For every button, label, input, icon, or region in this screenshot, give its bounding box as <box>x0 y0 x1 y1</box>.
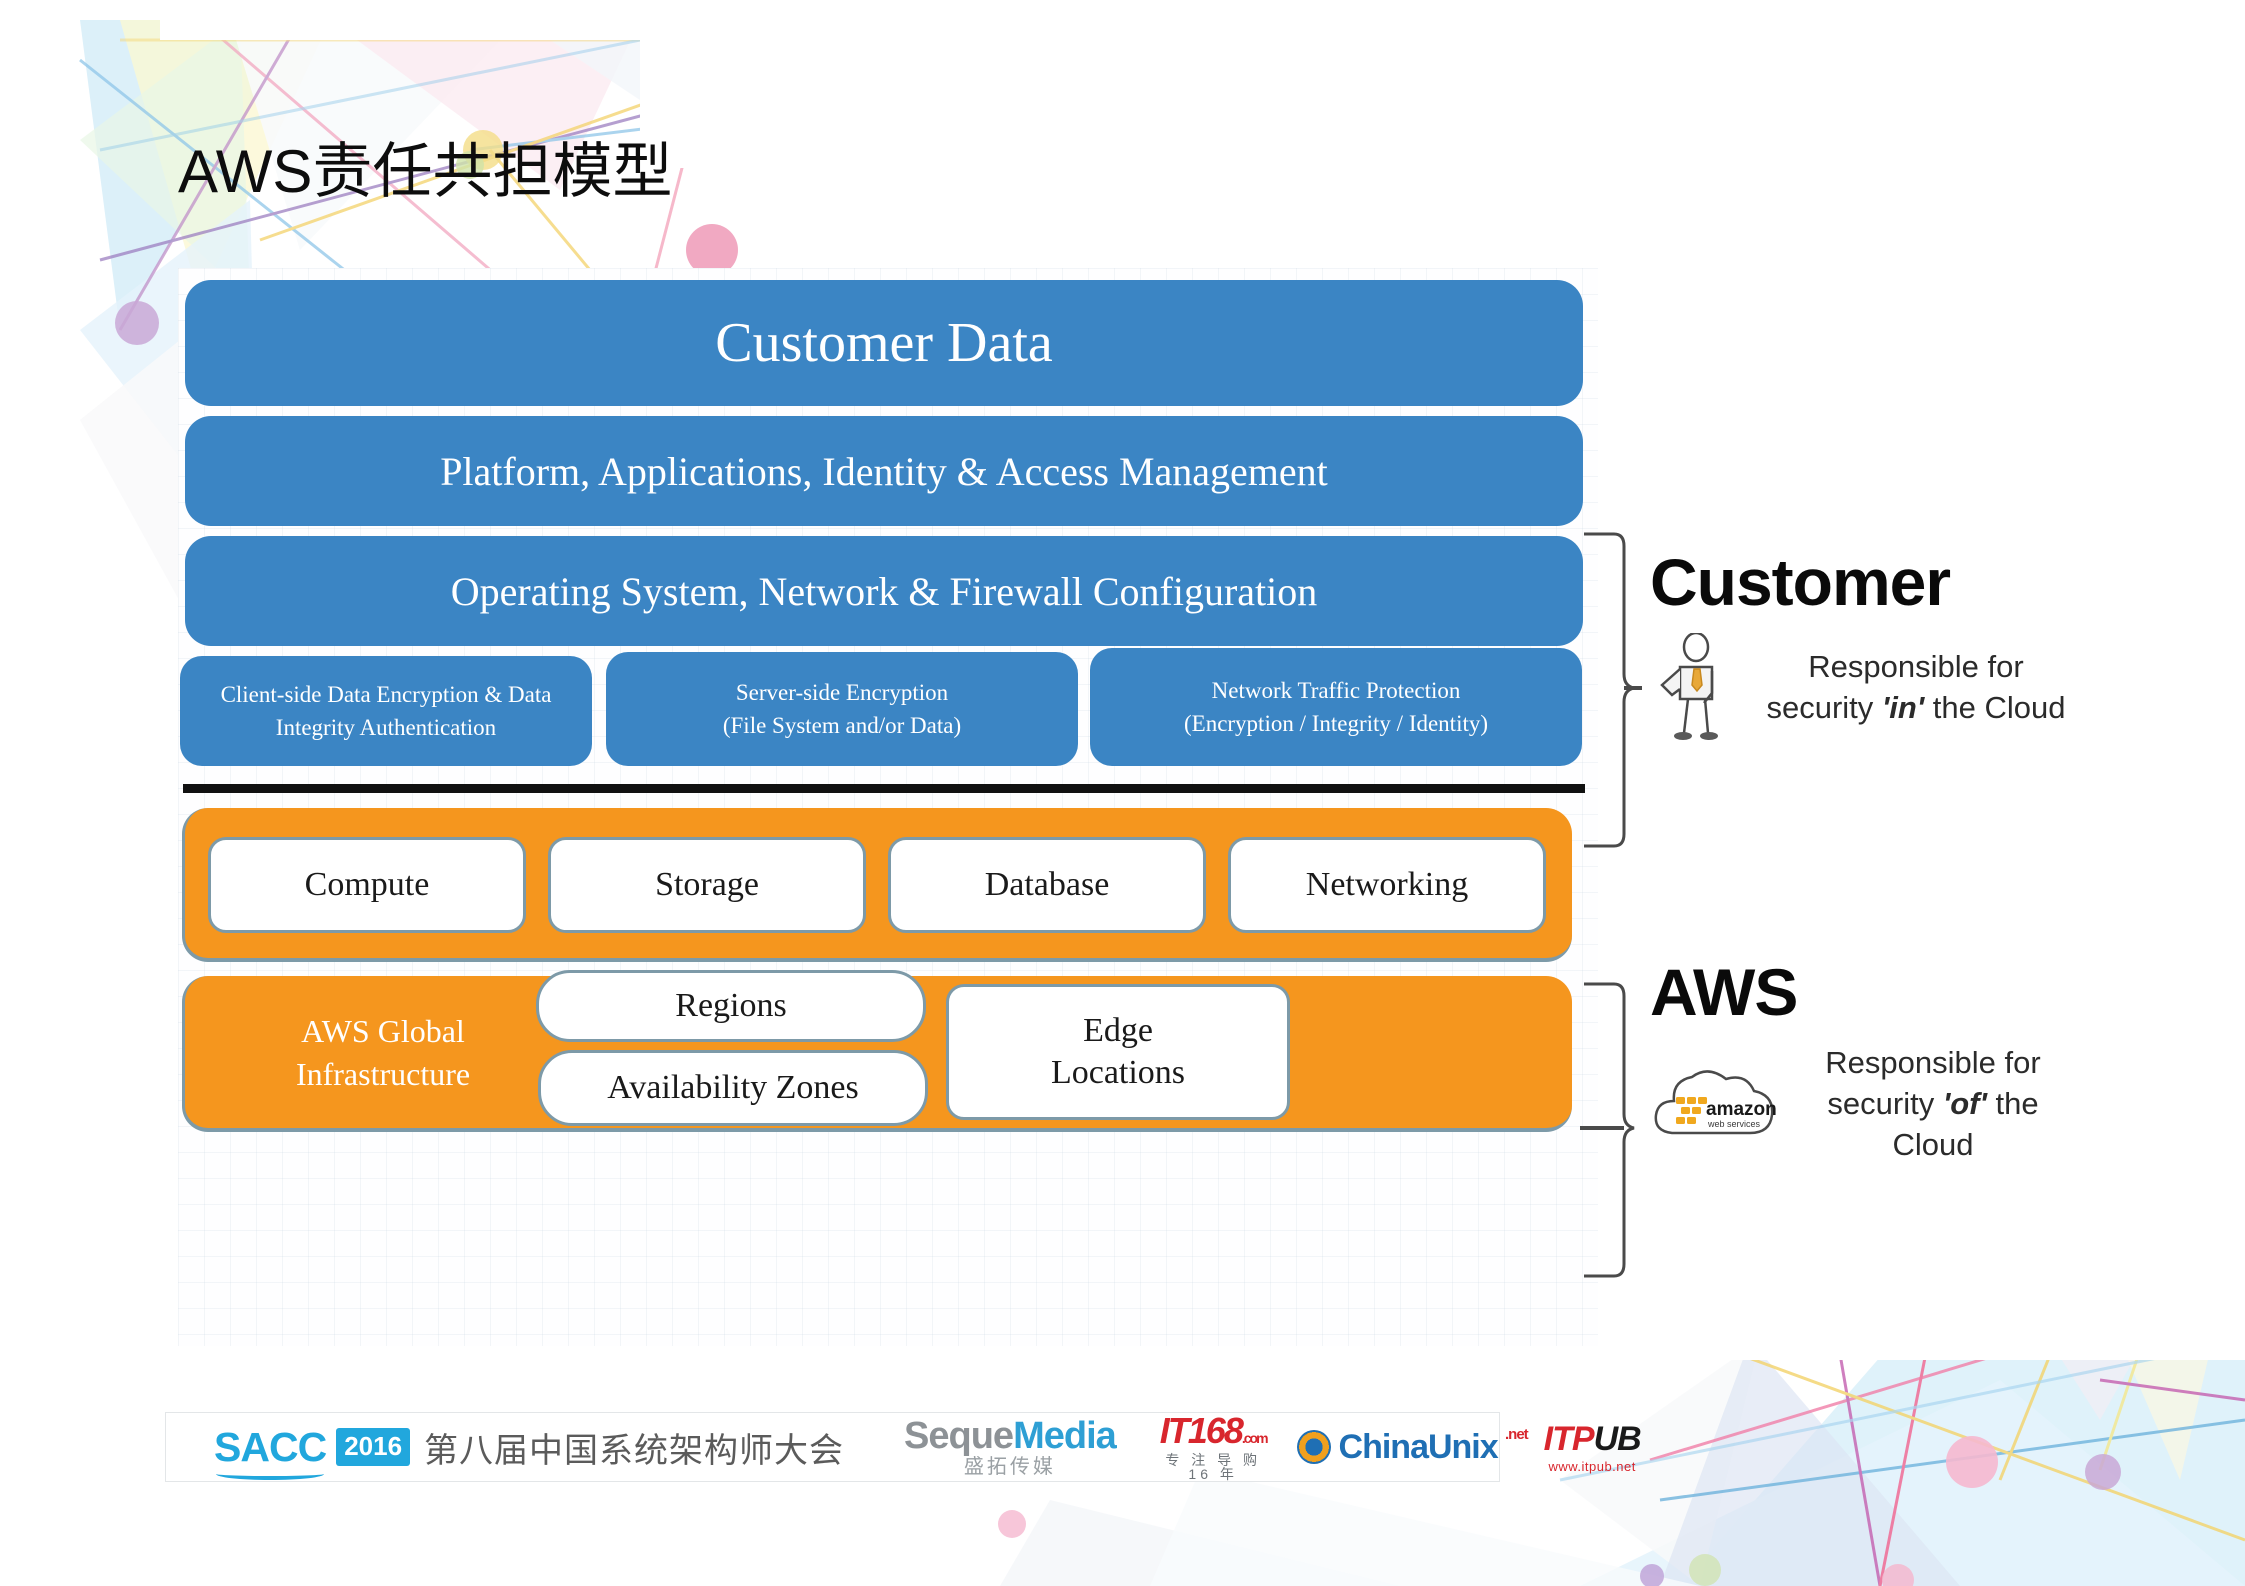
sacc-wordmark: SACC <box>214 1424 326 1471</box>
box-line-1: Server-side Encryption <box>723 676 961 709</box>
chinaunix-name: ChinaUnix <box>1339 1428 1498 1466</box>
chinaunix-logo: ChinaUnix.net <box>1297 1428 1498 1467</box>
box-line-1: Network Traffic Protection <box>1184 674 1488 707</box>
it168-name: IT168 <box>1160 1410 1242 1451</box>
edge-locations-line-1: Edge <box>1083 1010 1153 1053</box>
it168-logo: IT168.com 专 注 导 购 16 年 <box>1160 1413 1267 1481</box>
customer-responsibility-annotation: Customer Responsible for security 'in' t… <box>1650 548 2080 743</box>
customer-bracket <box>1580 530 1642 850</box>
svg-text:web services: web services <box>1707 1119 1761 1129</box>
sacc-chinese-name: 第八届中国系统架构师大会 <box>424 1423 844 1472</box>
box-network-traffic-protection: Network Traffic Protection (Encryption /… <box>1090 648 1582 766</box>
sacc-year-badge: 2016 <box>336 1428 410 1466</box>
sequemedia-part-grey: Seque <box>904 1415 1013 1457</box>
itpub-logo: ITPUB www.itpub.net <box>1544 1422 1641 1473</box>
pill-regions: Regions <box>536 970 926 1042</box>
page-title: AWS责任共担模型 <box>178 140 672 203</box>
customer-responsibility-body: Responsible for security 'in' the Cloud <box>1650 633 2080 743</box>
aws-responsibility-annotation: AWS amazon web services <box>1650 958 2080 1166</box>
pill-availability-zones: Availability Zones <box>538 1050 928 1126</box>
itpub-url: www.itpub.net <box>1544 1460 1641 1473</box>
box-server-side-encryption: Server-side Encryption (File System and/… <box>606 652 1078 766</box>
shared-responsibility-diagram: Customer Data Platform, Applications, Id… <box>178 268 1598 1346</box>
aws-heading: AWS <box>1650 958 2080 1027</box>
it168-suffix: .com <box>1242 1430 1267 1446</box>
service-card-storage: Storage <box>548 837 866 933</box>
sponsor-footer: SACC 2016 第八届中国系统架构师大会 SequeMedia 盛拓传媒 I… <box>165 1412 1500 1482</box>
aws-services-list: Compute Storage Database Networking <box>182 808 1572 962</box>
section-divider <box>183 784 1585 793</box>
global-infrastructure-label-line-1: AWS Global <box>238 1010 528 1053</box>
service-card-database: Database <box>888 837 1206 933</box>
customer-responsibility-text: Responsible for security 'in' the Cloud <box>1746 647 2080 729</box>
sequemedia-logo: SequeMedia 盛拓传媒 <box>904 1417 1116 1477</box>
box-line-2: (File System and/or Data) <box>723 709 961 742</box>
aws-responsibility-body: amazon web services Responsible for secu… <box>1650 1043 2080 1166</box>
layer-platform-applications-iam: Platform, Applications, Identity & Acces… <box>185 416 1583 526</box>
layer-customer-data: Customer Data <box>185 280 1583 406</box>
slide-canvas: AWS责任共担模型 Customer Data Platform, Applic… <box>0 0 2245 1586</box>
box-line-1: Client-side Data Encryption & Data <box>221 678 552 711</box>
chinaunix-tld: .net <box>1505 1426 1528 1443</box>
service-card-networking: Networking <box>1228 837 1546 933</box>
box-client-side-encryption: Client-side Data Encryption & Data Integ… <box>180 656 592 766</box>
global-infrastructure-label: AWS Global Infrastructure <box>238 1010 528 1096</box>
customer-text-emphasis: 'in' <box>1882 690 1924 725</box>
itpub-ub: UB <box>1594 1420 1641 1458</box>
layer-os-network-firewall: Operating System, Network & Firewall Con… <box>185 536 1583 646</box>
pill-edge-locations: Edge Locations <box>946 984 1290 1120</box>
customer-text-after: the Cloud <box>1924 690 2065 725</box>
amazon-web-services-cloud-icon: amazon web services <box>1650 1057 1780 1153</box>
person-stick-figure-icon <box>1650 633 1746 743</box>
sequemedia-chinese: 盛拓传媒 <box>904 1457 1116 1477</box>
edge-locations-line-2: Locations <box>1051 1052 1185 1095</box>
aws-text-emphasis: 'of' <box>1943 1086 1987 1121</box>
itpub-p: P <box>1572 1420 1594 1458</box>
aws-responsibility-text: Responsible for security 'of' the Cloud <box>1780 1043 2080 1166</box>
svg-text:amazon: amazon <box>1706 1099 1777 1120</box>
itpub-it: IT <box>1544 1420 1572 1458</box>
box-line-2: (Encryption / Integrity / Identity) <box>1184 707 1488 740</box>
global-infrastructure-label-line-2: Infrastructure <box>238 1053 528 1096</box>
customer-heading: Customer <box>1650 548 2080 617</box>
sequemedia-part-blue: Media <box>1013 1415 1116 1457</box>
sacc-logo: SACC 2016 第八届中国系统架构师大会 <box>214 1423 844 1472</box>
box-line-2: Integrity Authentication <box>221 711 552 744</box>
it168-chinese: 专 注 导 购 16 年 <box>1160 1453 1267 1481</box>
service-card-compute: Compute <box>208 837 526 933</box>
aws-bracket <box>1580 980 1642 1280</box>
chinaunix-ring-icon <box>1297 1430 1331 1464</box>
